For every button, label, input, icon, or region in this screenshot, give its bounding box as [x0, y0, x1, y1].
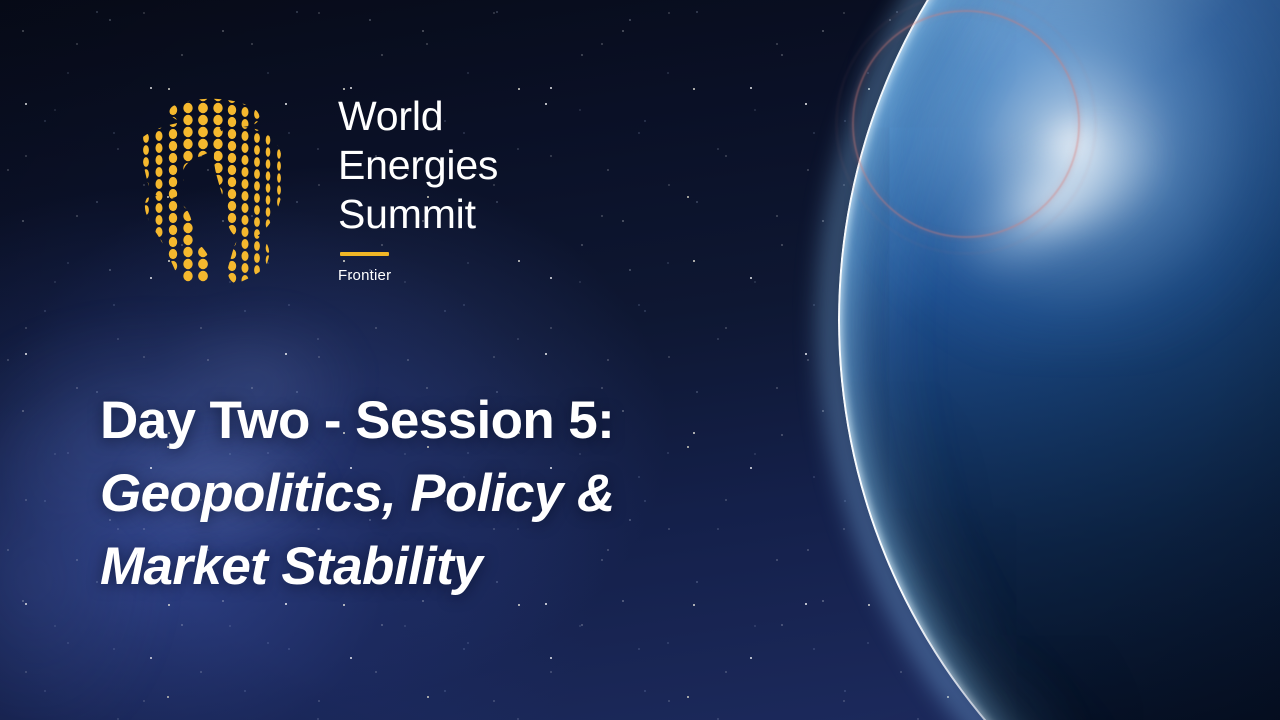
brand-sublabel: Frontier	[338, 267, 498, 284]
session-title-line-3: Market Stability	[100, 530, 740, 603]
session-title-line-2: Geopolitics, Policy &	[100, 457, 740, 530]
brand-line-1: World	[338, 92, 498, 141]
logo-lockup: World Energies Summit Frontier	[95, 86, 498, 291]
session-title: Day Two - Session 5: Geopolitics, Policy…	[100, 384, 740, 603]
brand-line-3: Summit	[338, 190, 498, 239]
title-slide: World Energies Summit Frontier Day Two -…	[0, 0, 1280, 720]
brand-divider-rule	[340, 252, 389, 256]
brand-line-2: Energies	[338, 141, 498, 190]
dotted-globe-logo-icon	[95, 86, 310, 291]
session-title-line-1: Day Two - Session 5:	[100, 384, 740, 457]
brand-wordmark: World Energies Summit Frontier	[338, 86, 498, 284]
